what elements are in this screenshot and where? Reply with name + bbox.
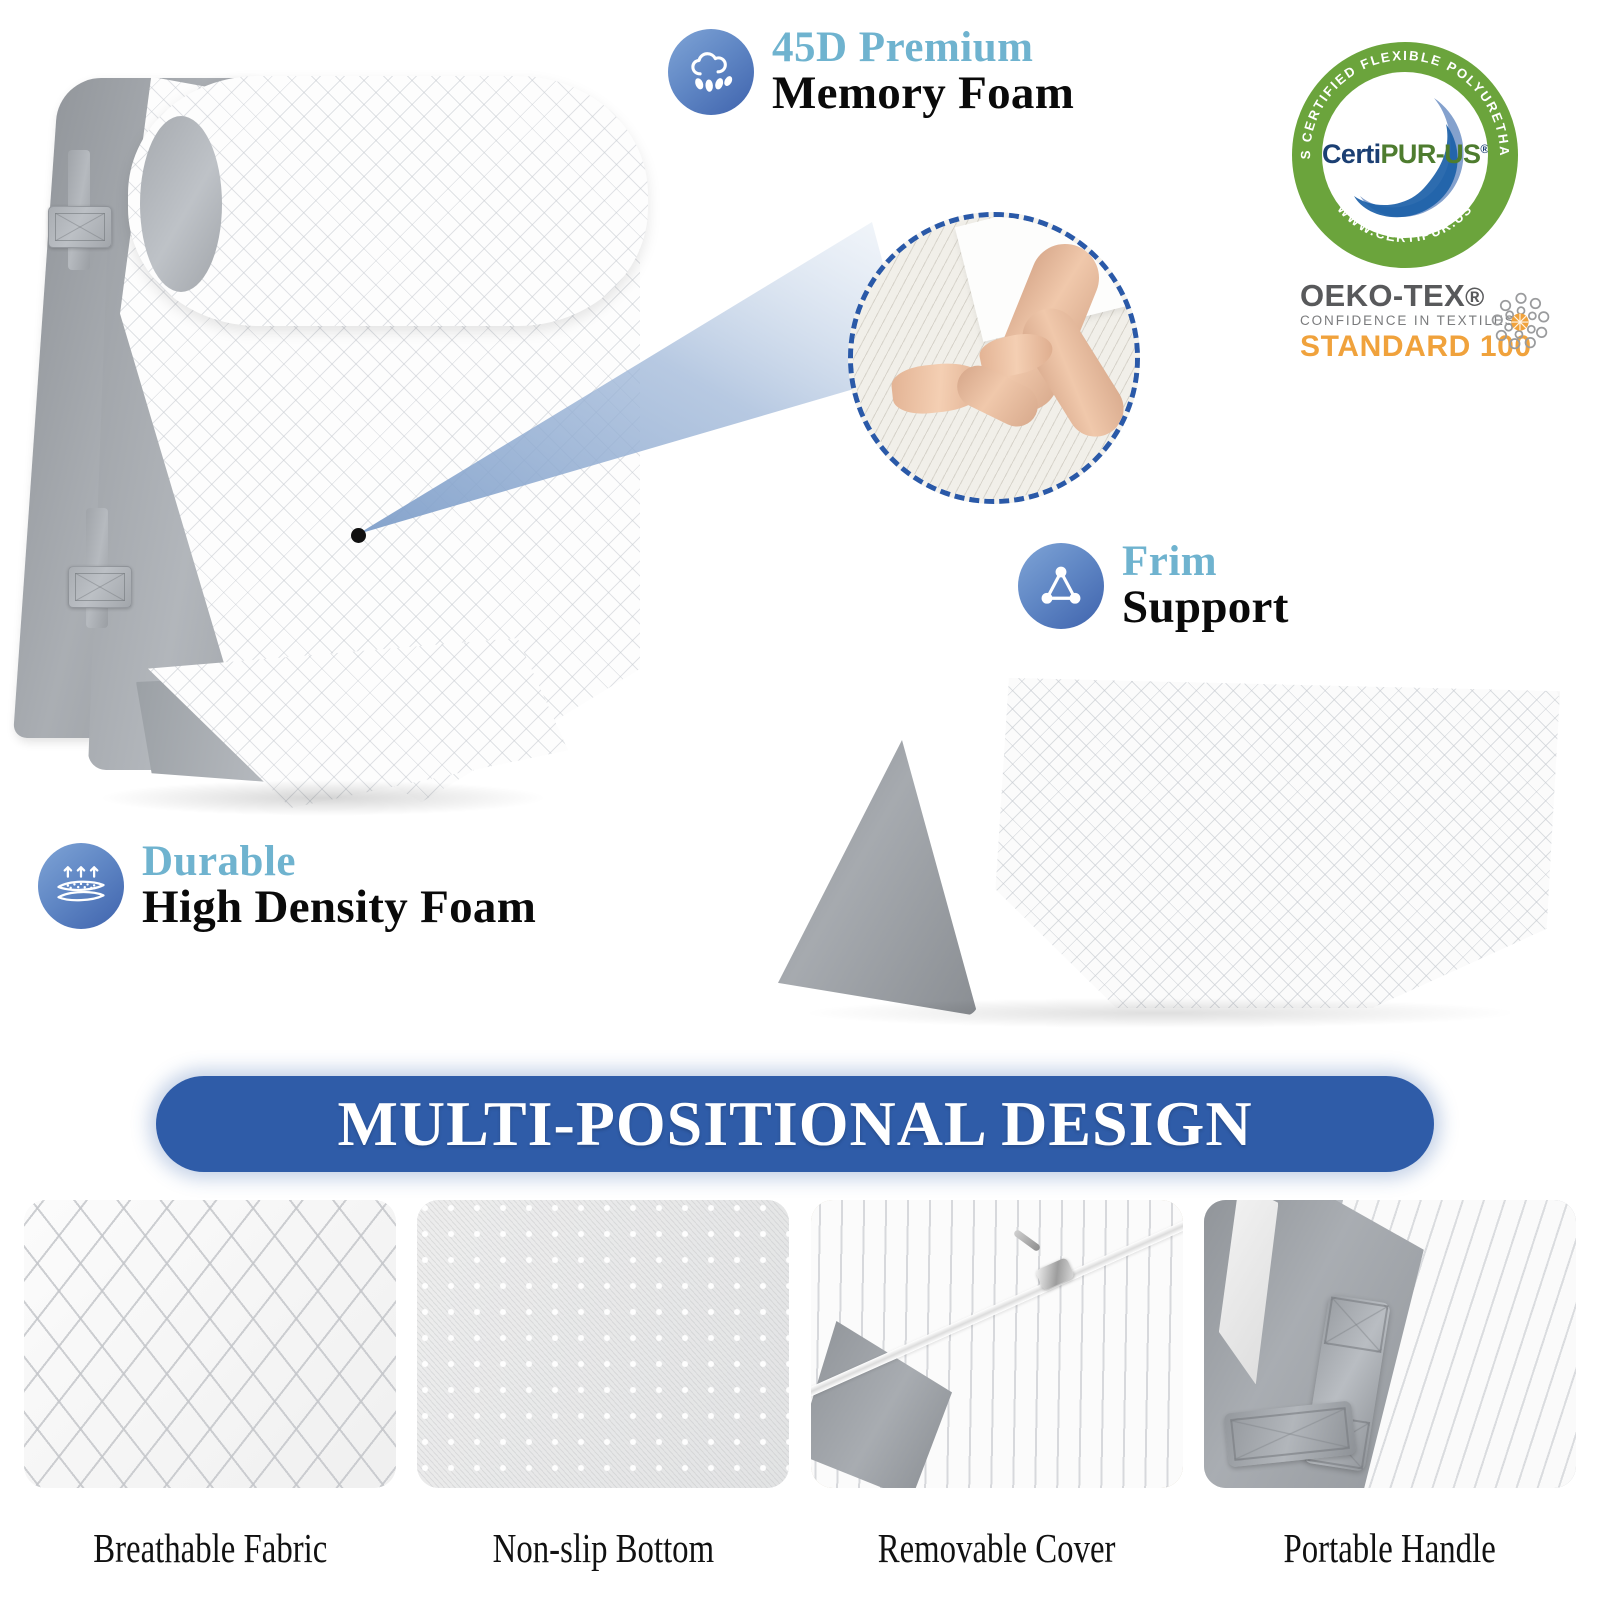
triangle-wedge-pillow-image <box>770 668 1560 1028</box>
gallery-caption: Breathable Fabric <box>93 1524 327 1572</box>
feature-badge-durable-foam: Durable High Density Foam <box>38 840 536 932</box>
banner-title: MULTI-POSITIONAL DESIGN <box>337 1087 1252 1161</box>
wedge-drop-shadow <box>810 998 1510 1028</box>
gallery-caption: Portable Handle <box>1284 1524 1496 1572</box>
certipur-us-seal-icon: CONTAINS CERTIFIED FLEXIBLE POLYURETHANE… <box>1292 42 1518 268</box>
zoom-callout-cone <box>352 222 912 542</box>
feature-badge-firm-support: Frim Support <box>1018 540 1289 632</box>
oeko-tex-flower-icon <box>1488 288 1554 354</box>
feature-badge-bottom-label: Support <box>1122 584 1289 632</box>
removable-cover-thumbnail[interactable] <box>811 1200 1183 1488</box>
wedge-velvet-side-face <box>778 740 978 1016</box>
triangle-nodes-icon <box>1018 543 1104 629</box>
gallery-item-non-slip-bottom[interactable]: Non-slip Bottom <box>417 1200 789 1600</box>
wedge-quilted-top-face <box>888 678 1560 1008</box>
layered-fabric-arrows-icon <box>38 843 124 929</box>
feature-badge-top-label: Frim <box>1122 540 1289 584</box>
feature-badge-top-label: Durable <box>142 840 536 884</box>
gallery-item-removable-cover[interactable]: Removable Cover <box>811 1200 1183 1600</box>
portable-handle-thumbnail[interactable] <box>1204 1200 1576 1488</box>
foam-cloud-icon <box>668 29 754 115</box>
feature-badge-memory-foam: 45D Premium Memory Foam <box>668 26 1074 118</box>
pillow-neck-roll-end-cap <box>140 116 222 292</box>
pillow-drop-shadow <box>98 780 548 816</box>
multi-positional-design-banner: MULTI-POSITIONAL DESIGN <box>156 1076 1434 1172</box>
feature-badge-top-label: 45D Premium <box>772 26 1074 70</box>
non-slip-bottom-thumbnail[interactable] <box>417 1200 789 1488</box>
infographic-canvas: 45D Premium Memory Foam Frim Support <box>0 0 1600 1600</box>
pillow-strap-buckle-bottom <box>68 566 132 608</box>
pillow-strap-buckle-top <box>48 206 112 248</box>
certipur-wordmark: CertiPUR-US® <box>1322 139 1488 170</box>
gallery-caption: Non-slip Bottom <box>493 1524 714 1572</box>
breathable-fabric-thumbnail[interactable] <box>24 1200 396 1488</box>
oeko-tex-badge: OEKO-TEX® CONFIDENCE IN TEXTILES STANDAR… <box>1300 280 1550 372</box>
feature-badge-bottom-label: Memory Foam <box>772 70 1074 118</box>
zoom-callout-origin-dot <box>351 528 366 543</box>
feature-thumbnail-gallery: Breathable Fabric Non-slip Bottom Remova… <box>0 1200 1600 1600</box>
memory-foam-zoom-circle <box>848 212 1140 504</box>
feature-badge-bottom-label: High Density Foam <box>142 884 536 932</box>
gallery-item-breathable-fabric[interactable]: Breathable Fabric <box>24 1200 396 1600</box>
gallery-item-portable-handle[interactable]: Portable Handle <box>1204 1200 1576 1600</box>
gallery-caption: Removable Cover <box>878 1524 1116 1572</box>
